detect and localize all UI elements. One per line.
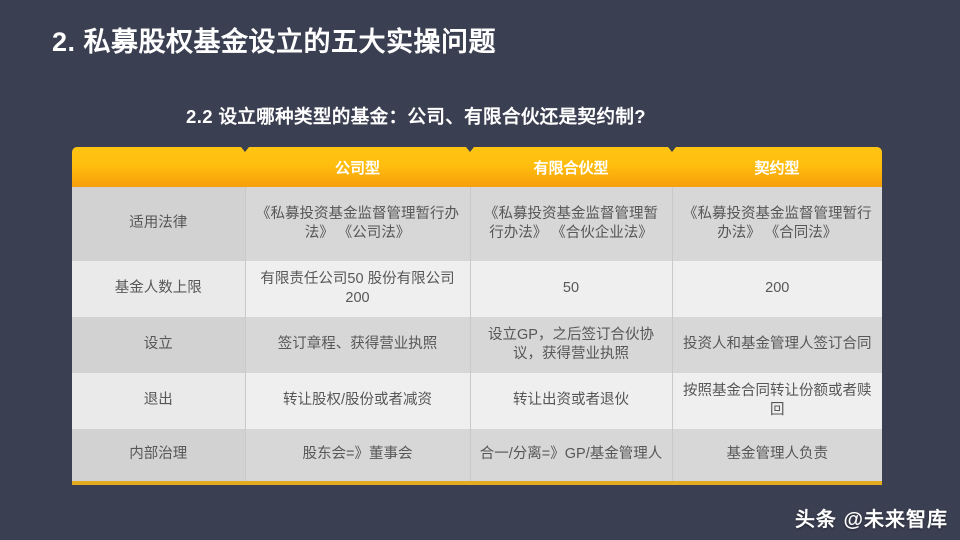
cell-partnership-governance: 合一/分离=》GP/基金管理人 — [470, 429, 672, 481]
cell-partnership-investor-cap: 50 — [470, 261, 672, 317]
table-body: 适用法律 《私募投资基金监督管理暂行办法》 《公司法》 《私募投资基金监督管理暂… — [72, 187, 882, 481]
cell-contract-law: 《私募投资基金监督管理暂行办法》 《合同法》 — [672, 187, 882, 261]
slide-canvas: 2. 私募股权基金设立的五大实操问题 2.2 设立哪种类型的基金：公司、有限合伙… — [0, 0, 960, 540]
row-label-exit: 退出 — [72, 373, 245, 429]
section-subtitle: 2.2 设立哪种类型的基金：公司、有限合伙还是契约制? — [186, 103, 646, 129]
page-title: 2. 私募股权基金设立的五大实操问题 — [52, 20, 496, 59]
fund-type-comparison-table: 公司型 有限合伙型 契约型 适用法律 《私募投资基金监督管理暂行办法》 《公司法… — [72, 147, 882, 481]
cell-contractual-establishment: 投资人和基金管理人签订合同 — [672, 317, 882, 373]
cell-partnership-law: 《私募投资基金监督管理暂行办法》 《合伙企业法》 — [470, 187, 672, 261]
table-header-row: 公司型 有限合伙型 契约型 — [72, 147, 882, 187]
cell-company-governance: 股东会=》董事会 — [245, 429, 470, 481]
table-row: 适用法律 《私募投资基金监督管理暂行办法》 《公司法》 《私募投资基金监督管理暂… — [72, 187, 882, 261]
table-row: 退出 转让股权/股份或者减资 转让出资或者退伙 按照基金合同转让份额或者赎回 — [72, 373, 882, 429]
cell-company-exit: 转让股权/股份或者减资 — [245, 373, 470, 429]
table-row: 基金人数上限 有限责任公司50 股份有限公司200 50 200 — [72, 261, 882, 317]
cell-contractual-investor-cap: 200 — [672, 261, 882, 317]
row-label-establishment: 设立 — [72, 317, 245, 373]
row-label-applicable-law: 适用法律 — [72, 187, 245, 261]
cell-contractual-exit: 按照基金合同转让份额或者赎回 — [672, 373, 882, 429]
cell-contractual-governance: 基金管理人负责 — [672, 429, 882, 481]
table-header-cell-contractual-type: 契约型 — [672, 147, 882, 187]
table-row: 设立 签订章程、获得营业执照 设立GP，之后签订合伙协议，获得营业执照 投资人和… — [72, 317, 882, 373]
table-header-cell-company-type: 公司型 — [245, 147, 470, 187]
cell-partnership-establishment: 设立GP，之后签订合伙协议，获得营业执照 — [470, 317, 672, 373]
table-header-cell-blank — [72, 147, 245, 187]
cell-company-investor-cap: 有限责任公司50 股份有限公司200 — [245, 261, 470, 317]
cell-partnership-exit: 转让出资或者退伙 — [470, 373, 672, 429]
table-row: 内部治理 股东会=》董事会 合一/分离=》GP/基金管理人 基金管理人负责 — [72, 429, 882, 481]
row-label-investor-cap: 基金人数上限 — [72, 261, 245, 317]
table-header-cell-limited-partnership-type: 有限合伙型 — [470, 147, 672, 187]
cell-company-establishment: 签订章程、获得营业执照 — [245, 317, 470, 373]
cell-company-law: 《私募投资基金监督管理暂行办法》 《公司法》 — [245, 187, 470, 261]
watermark-text: 头条 @未来智库 — [795, 503, 948, 532]
row-label-internal-governance: 内部治理 — [72, 429, 245, 481]
comparison-table-container: 公司型 有限合伙型 契约型 适用法律 《私募投资基金监督管理暂行办法》 《公司法… — [72, 147, 882, 485]
